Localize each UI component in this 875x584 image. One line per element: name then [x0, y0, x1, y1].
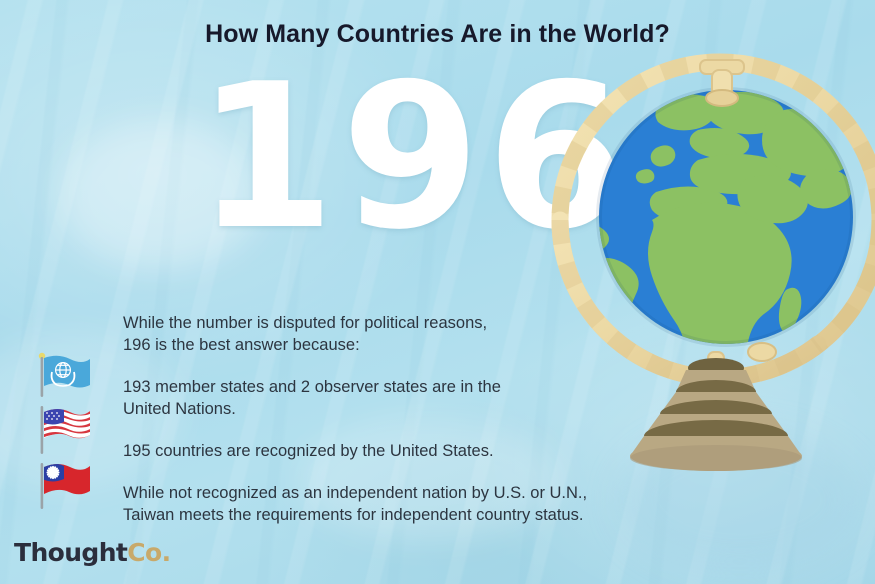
united-nations-flag-icon: [36, 352, 92, 403]
globe-axis-knob: [700, 60, 744, 106]
logo-co: Co.: [127, 538, 170, 567]
logo-thought: Thought: [14, 538, 127, 567]
paragraph-taiwan: While not recognized as an independent n…: [123, 482, 743, 526]
paragraph-intro: While the number is disputed for politic…: [123, 312, 743, 356]
taiwan-flag-icon: [36, 461, 92, 516]
thoughtco-logo: ThoughtCo.: [14, 538, 171, 567]
paragraph-us: 195 countries are recognized by the Unit…: [123, 440, 743, 462]
united-states-flag-icon: [36, 404, 92, 461]
paragraph-un: 193 member states and 2 observer states …: [123, 376, 743, 420]
body-copy: While the number is disputed for politic…: [123, 312, 743, 526]
infographic-canvas: How Many Countries Are in the World? 196: [0, 0, 875, 584]
